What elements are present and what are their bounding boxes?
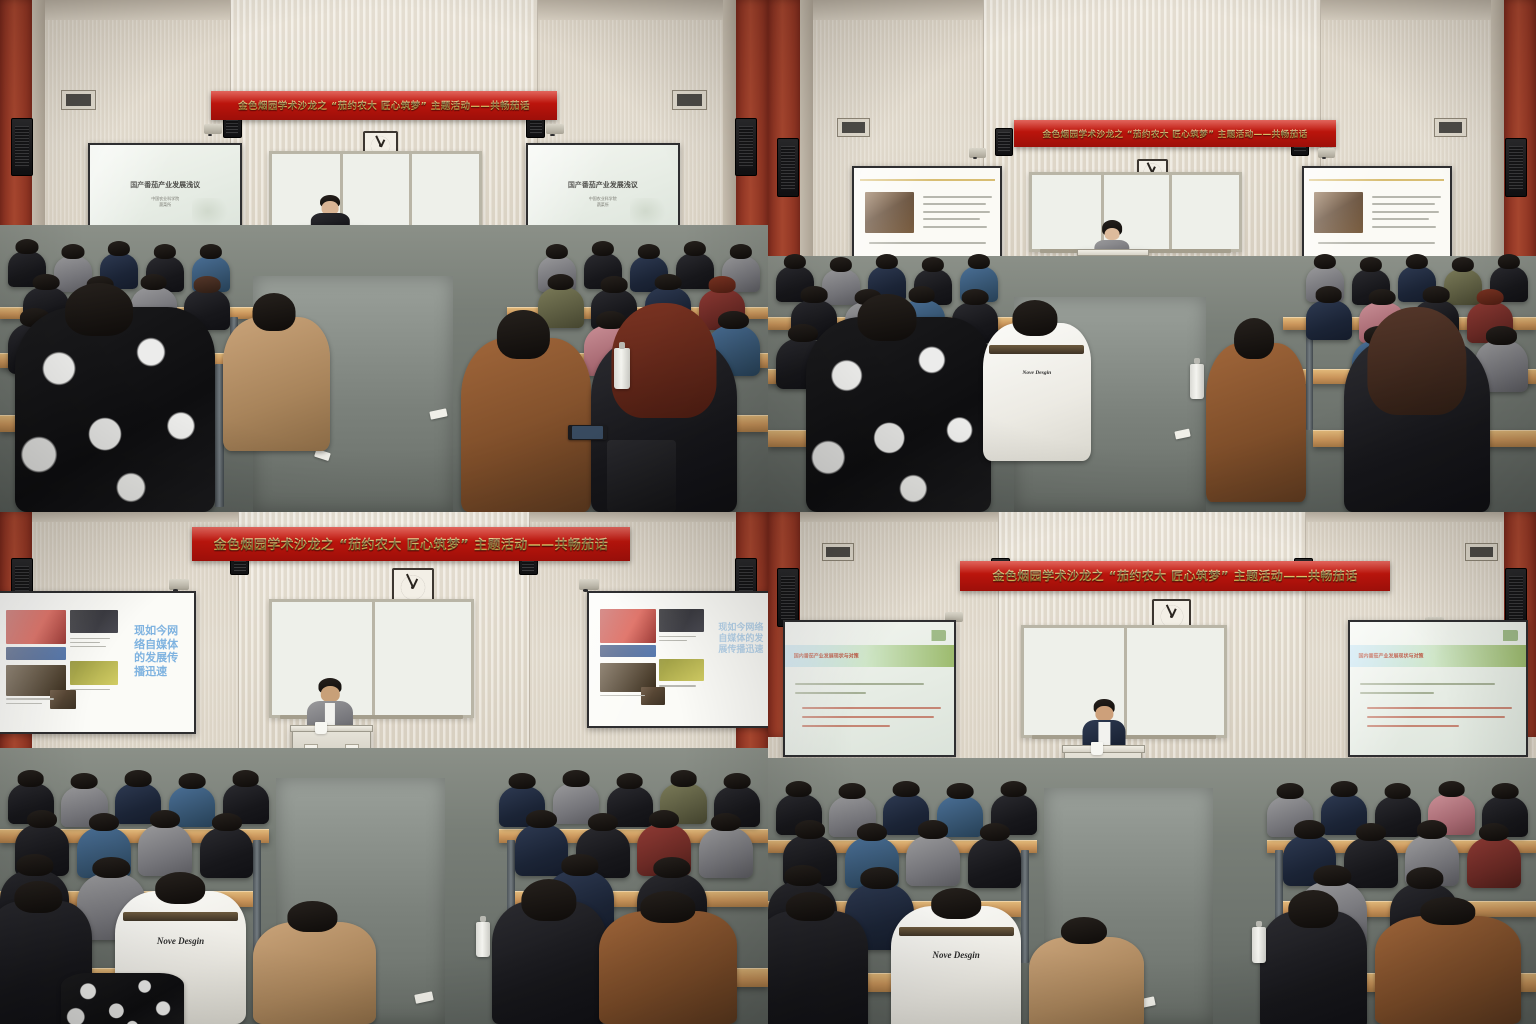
pillar-trim-left (800, 0, 812, 276)
panel-top-left: 金色烟园学术沙龙之 “茄约农大 匠心筑梦” 主题活动——共畅茄话 国产番茄产业发… (0, 0, 768, 512)
projector-right (1318, 148, 1335, 157)
wall-speaker-left (777, 138, 799, 196)
event-banner: 金色烟园学术沙龙之 “茄约农大 匠心筑梦” 主题活动——共畅茄话 (192, 527, 630, 560)
projector-right (546, 124, 564, 134)
wall-speaker-left (11, 118, 33, 176)
audience-member-tan-coat (223, 317, 331, 450)
audience-member-long-hair (1344, 338, 1490, 512)
projection-screen-right: 国内番茄产业发展现状与对策 (1348, 620, 1529, 757)
audience-member-white-jacket: Nove Desgin (983, 323, 1091, 461)
projection-screen-left (852, 166, 1002, 262)
event-banner: 金色烟园学术沙龙之 “茄约农大 匠心筑梦” 主题活动——共畅茄话 (960, 561, 1390, 592)
audience-member (1260, 911, 1368, 1024)
projector-left (204, 124, 222, 134)
water-cup (1091, 742, 1103, 754)
audience-member (200, 827, 254, 878)
wall-control-box-right (672, 90, 706, 110)
audience-member-wade-jacket (61, 973, 184, 1024)
panel-bottom-left: 金色烟园学术沙龙之 “茄约农大 匠心筑梦” 主题活动——共畅茄话 (0, 512, 768, 1024)
audience-member (768, 911, 868, 1024)
audience-member-brown-coat (1206, 343, 1306, 502)
panel-top-right: 金色烟园学术沙龙之 “茄约农大 匠心筑梦” 主题活动——共畅茄话 (768, 0, 1536, 512)
wall-control-box-right (1434, 118, 1467, 137)
water-bottle (1252, 927, 1266, 963)
desk-leg-1 (1021, 850, 1029, 963)
projection-screen-left: 现如今网络自媒体的发展传播迅速 (0, 591, 196, 733)
wall-control-box-right (1465, 543, 1498, 561)
photo-collage: 金色烟园学术沙龙之 “茄约农大 匠心筑梦” 主题活动——共畅茄话 国产番茄产业发… (0, 0, 1536, 1024)
audience-member (906, 835, 960, 886)
wall-speaker-right (1505, 138, 1527, 196)
audience-member-brown-coat (1375, 916, 1521, 1024)
desk-leg-2 (1306, 328, 1314, 430)
audience-member (1467, 837, 1521, 888)
projector-right (579, 579, 599, 590)
wall-speaker-right (735, 118, 757, 176)
whiteboard (269, 151, 482, 234)
water-bottle (476, 922, 490, 958)
audience-member (1344, 837, 1398, 888)
projector-left (969, 148, 986, 157)
projection-screen-right (1302, 166, 1452, 262)
audience-member (968, 837, 1022, 888)
audience-member (699, 827, 753, 878)
wall-control-box-left (61, 90, 95, 110)
projection-screen-left: 国内番茄产业发展现状与对策 (783, 620, 956, 757)
mobile-phone (568, 425, 606, 440)
projector-left (169, 579, 189, 590)
whiteboard (1029, 172, 1242, 252)
panel-bottom-right: 金色烟园学术沙龙之 “茄约农大 匠心筑梦” 主题活动——共畅茄话 国内番茄产业发… (768, 512, 1536, 1024)
audience-member-white-jacket: Nove Desgin (891, 906, 1022, 1024)
backpack (607, 440, 676, 512)
event-banner: 金色烟园学术沙龙之 “茄约农大 匠心筑梦” 主题活动——共畅茄话 (1014, 120, 1337, 147)
audience-member (1306, 300, 1352, 341)
projection-screen-right: 现如今网络自媒体的发展传播迅速 (587, 591, 768, 728)
audience-member-wade-jacket (15, 307, 215, 512)
wall-control-box-left (822, 543, 855, 561)
event-banner: 金色烟园学术沙龙之 “茄约农大 匠心筑梦” 主题活动——共畅茄话 (211, 91, 557, 120)
water-bottle (614, 348, 629, 389)
audience-member-wade-jacket (806, 317, 990, 512)
whiteboard (269, 599, 475, 718)
audience-member-tan-coat (1029, 937, 1144, 1024)
audience-member-tan-coat (253, 922, 376, 1024)
wall-speaker-right (1505, 568, 1527, 626)
water-bottle (1190, 364, 1204, 400)
pillar-trim-right (1491, 0, 1503, 276)
water-cup (315, 722, 327, 734)
wall-control-box-left (837, 118, 870, 137)
audience-member-brown-coat (599, 911, 737, 1024)
audience-member (492, 901, 607, 1024)
wall-speaker-left (777, 568, 799, 626)
ceiling-speaker-left (995, 128, 1014, 156)
audience-member (138, 824, 192, 875)
